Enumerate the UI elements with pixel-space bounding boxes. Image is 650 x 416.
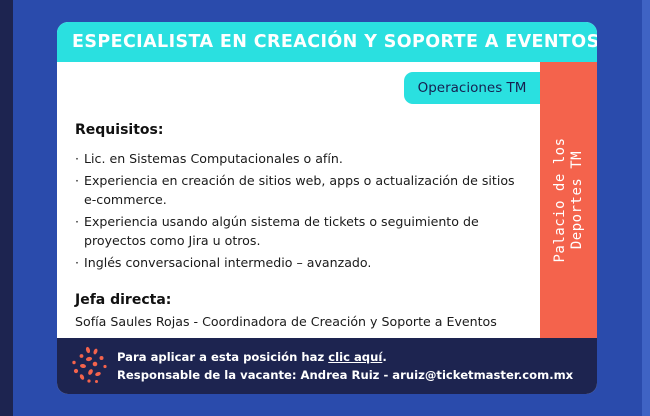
- manager-heading: Jefa directa:: [75, 292, 530, 308]
- apply-suffix: .: [382, 350, 386, 364]
- manager-block: Jefa directa: Sofía Saules Rojas - Coord…: [75, 292, 530, 331]
- venue-tab-text: Palacio de los Deportes TM: [552, 137, 586, 262]
- venue-tab-line1: Palacio de los: [552, 137, 569, 262]
- apply-link[interactable]: clic aquí: [328, 350, 382, 364]
- footer-text-block: Para aplicar a esta posición haz clic aq…: [117, 348, 573, 384]
- bullet-icon: ·: [75, 149, 79, 169]
- card-body: Operaciones TM Requisitos: · Lic. en Sis…: [57, 62, 540, 338]
- list-item: · Lic. en Sistemas Computacionales o afí…: [75, 149, 530, 169]
- list-item-text: Experiencia usando algún sistema de tick…: [84, 214, 479, 249]
- card-footer: Para aplicar a esta posición haz clic aq…: [57, 338, 597, 394]
- confetti-dots-icon: [65, 345, 111, 387]
- job-title: ESPECIALISTA EN CREACIÓN Y SOPORTE A EVE…: [57, 32, 597, 52]
- venue-tab-line2: Deportes TM: [569, 137, 586, 262]
- list-item: · Experiencia usando algún sistema de ti…: [75, 212, 530, 251]
- list-item-text: Experiencia en creación de sitios web, a…: [84, 173, 515, 208]
- manager-name: Sofía Saules Rojas - Coordinadora de Cre…: [75, 313, 530, 331]
- bullet-icon: ·: [75, 253, 79, 273]
- apply-prefix: Para aplicar a esta posición haz: [117, 350, 328, 364]
- list-item: · Inglés conversacional intermedio – ava…: [75, 253, 530, 273]
- list-item-text: Inglés conversacional intermedio – avanz…: [84, 255, 371, 270]
- vacancy-owner-line: Responsable de la vacante: Andrea Ruiz -…: [117, 366, 573, 384]
- list-item-text: Lic. en Sistemas Computacionales o afín.: [84, 151, 343, 166]
- card-content: Requisitos: · Lic. en Sistemas Computaci…: [75, 122, 530, 331]
- apply-line: Para aplicar a esta posición haz clic aq…: [117, 348, 573, 366]
- requirements-heading: Requisitos:: [75, 122, 530, 138]
- department-badge: Operaciones TM: [404, 72, 540, 104]
- department-badge-label: Operaciones TM: [418, 80, 527, 96]
- venue-tab: Palacio de los Deportes TM: [540, 62, 597, 338]
- bullet-icon: ·: [75, 212, 79, 232]
- background-edge-left: [0, 0, 13, 416]
- page-canvas: ESPECIALISTA EN CREACIÓN Y SOPORTE A EVE…: [0, 0, 650, 416]
- background-edge-right: [642, 0, 650, 416]
- job-posting-card: ESPECIALISTA EN CREACIÓN Y SOPORTE A EVE…: [57, 22, 597, 394]
- list-item: · Experiencia en creación de sitios web,…: [75, 171, 530, 210]
- card-header: ESPECIALISTA EN CREACIÓN Y SOPORTE A EVE…: [57, 22, 597, 62]
- bullet-icon: ·: [75, 171, 79, 191]
- requirements-list: · Lic. en Sistemas Computacionales o afí…: [75, 149, 530, 272]
